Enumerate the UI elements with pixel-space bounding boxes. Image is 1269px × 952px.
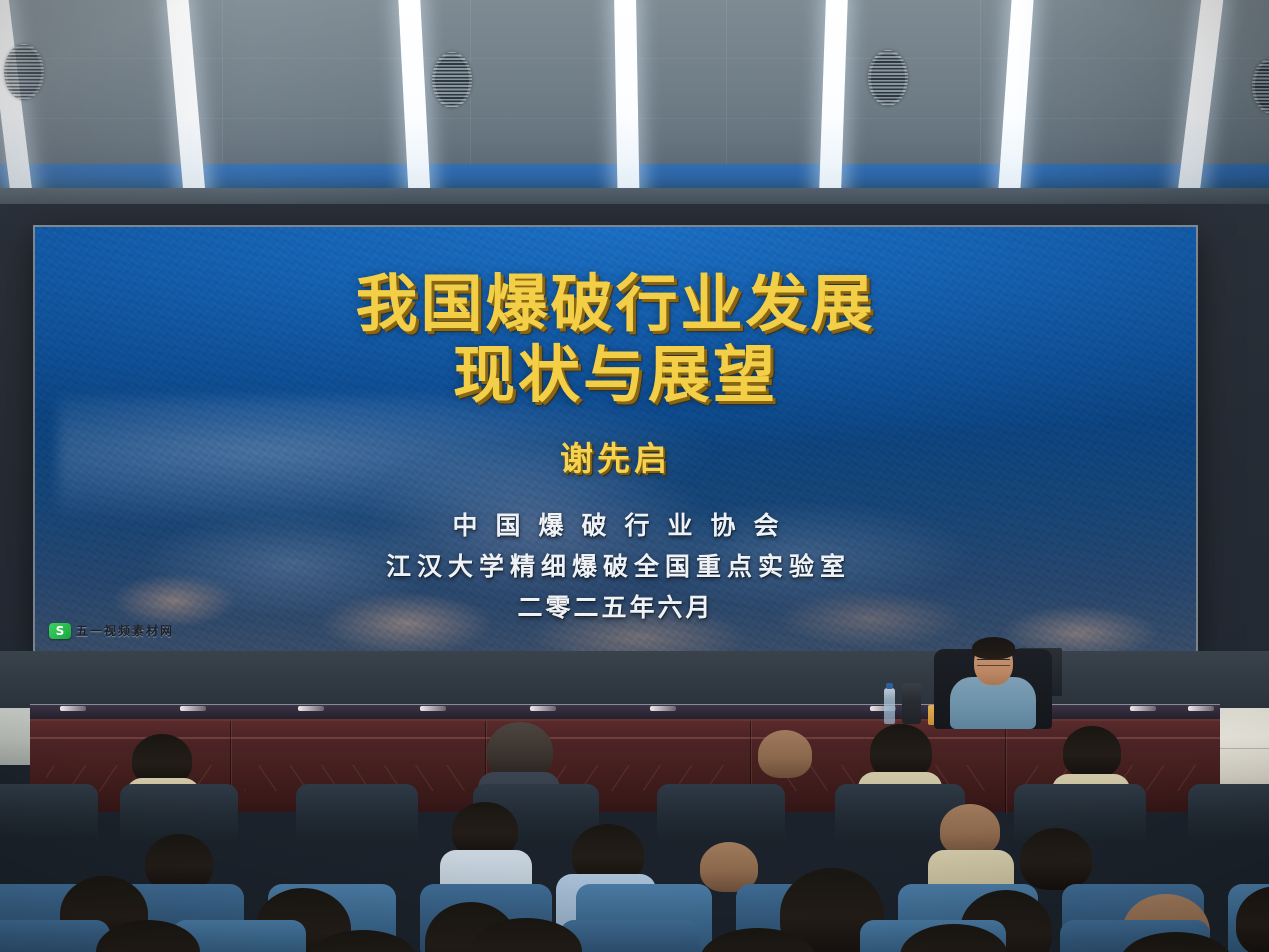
thermos-flask: [902, 683, 921, 724]
vent-grille-icon: [4, 44, 44, 100]
ceiling-light-strip: [0, 0, 33, 200]
vent-grille-icon: [432, 52, 472, 108]
slide-title: 我国爆破行业发展 现状与展望: [35, 269, 1196, 410]
ceiling-light-strip: [1177, 0, 1224, 200]
slide-title-line2: 现状与展望: [35, 340, 1196, 411]
slide-organization: 中国爆破行业协会: [35, 506, 1196, 542]
watermark-badge-icon: S: [49, 623, 71, 639]
ceiling: [0, 0, 1269, 212]
auditorium-seat: [0, 920, 110, 952]
audience-area: [0, 756, 1269, 952]
auditorium-seat: [1188, 784, 1269, 842]
ceiling-light-strip: [398, 0, 431, 200]
auditorium-seat: [296, 784, 418, 842]
attendee-head: [1020, 828, 1092, 890]
auditorium-seat: [657, 784, 785, 842]
conference-hall-screenshot: 我国爆破行业发展 现状与展望 谢先启 中国爆破行业协会 江汉大学精细爆破全国重点…: [0, 0, 1269, 952]
projection-screen: 我国爆破行业发展 现状与展望 谢先启 中国爆破行业协会 江汉大学精细爆破全国重点…: [35, 227, 1196, 651]
slide-laboratory: 江汉大学精细爆破全国重点实验室: [35, 547, 1196, 583]
presentation-slide: 我国爆破行业发展 现状与展望 谢先启 中国爆破行业协会 江汉大学精细爆破全国重点…: [35, 227, 1196, 651]
eyeglasses-icon: [977, 659, 1010, 666]
water-bottle: [884, 688, 895, 724]
ceiling-cove-light: [0, 164, 1269, 190]
ceiling-light-strip: [614, 0, 640, 200]
ceiling-light-strip: [819, 0, 848, 200]
attendee-head: [1063, 726, 1121, 778]
vent-grille-icon: [868, 50, 908, 106]
stage-wall-band: [0, 651, 1269, 708]
attendee-head: [758, 730, 812, 778]
ceiling-light-strip: [998, 0, 1034, 200]
vent-grille-icon: [1252, 58, 1269, 114]
attendee-head: [940, 804, 1000, 856]
slide-content: 我国爆破行业发展 现状与展望 谢先启 中国爆破行业协会 江汉大学精细爆破全国重点…: [35, 227, 1196, 651]
auditorium-seat: [0, 784, 98, 840]
speaker-hair: [972, 637, 1015, 659]
speaker-at-podium: [938, 635, 1048, 727]
watermark-text: 五一视频素材网: [76, 622, 174, 639]
slide-watermark: S 五一视频素材网: [49, 622, 174, 639]
ceiling-light-strip: [166, 0, 206, 200]
slide-author: 谢先启: [35, 432, 1196, 480]
slide-date: 二零二五年六月: [35, 588, 1196, 624]
slide-title-line1: 我国爆破行业发展: [355, 267, 875, 340]
